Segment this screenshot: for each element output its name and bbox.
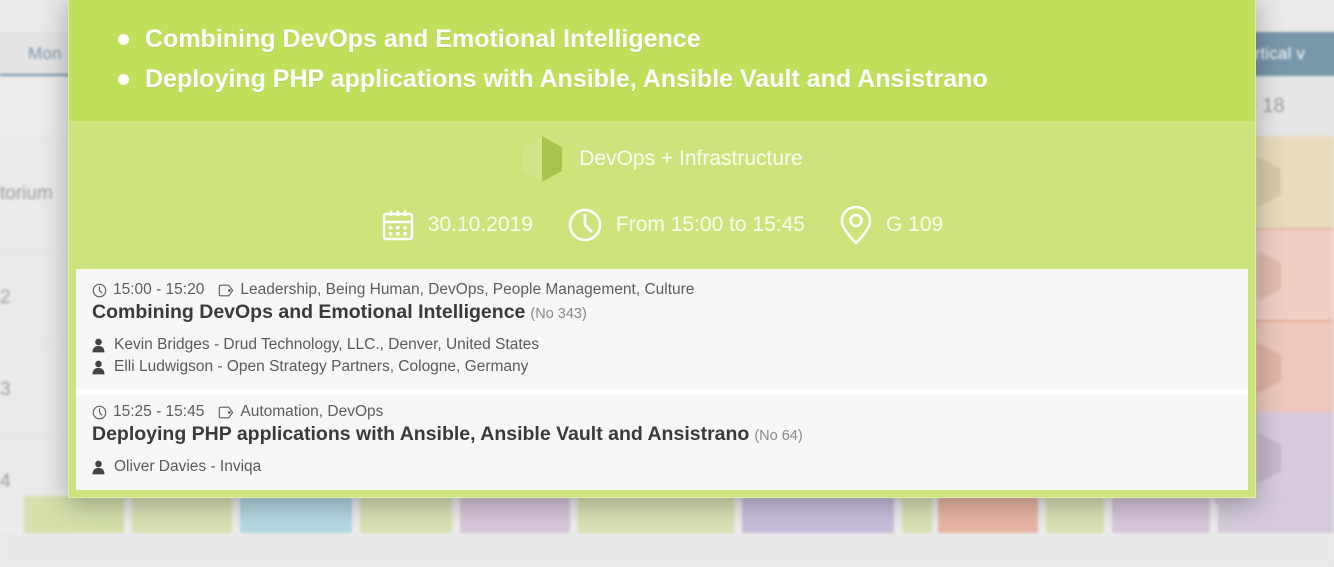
session-title-row: Combining DevOps and Emotional Intellige… xyxy=(92,301,1232,324)
background-row-label-text: 2 xyxy=(0,287,11,309)
session-title-row: Deploying PHP applications with Ansible,… xyxy=(92,423,1232,446)
background-row-label-text: torium xyxy=(0,183,53,205)
person-icon xyxy=(92,360,105,375)
session-number: (No 343) xyxy=(530,306,586,322)
clock-icon xyxy=(567,207,603,243)
session-tags: Automation, DevOps xyxy=(240,403,383,421)
tag-icon xyxy=(218,406,234,419)
calendar-icon xyxy=(381,208,415,242)
session-item[interactable]: 15:00 - 15:20 Leadership, Being Human, D… xyxy=(76,269,1248,390)
meta-info-row: 30.10.2019 From 15:00 to 15:45 xyxy=(69,205,1255,245)
speaker-name: Kevin Bridges - Drud Technology, LLC., D… xyxy=(114,334,539,356)
background-tab-label: Mon xyxy=(28,44,62,64)
meta-date: 30.10.2019 xyxy=(381,208,533,242)
background-row-label-auditorium: torium xyxy=(0,136,66,251)
session-meta-row: 15:00 - 15:20 Leadership, Being Human, D… xyxy=(92,281,1232,299)
modal-meta-section: DevOps + Infrastructure xyxy=(69,121,1255,269)
background-row-label-12: 2 xyxy=(0,251,66,343)
speaker-row: Elli Ludwigson - Open Strategy Partners,… xyxy=(92,356,1232,378)
hexagon-cube-icon xyxy=(521,135,563,183)
session-detail-modal: Combining DevOps and Emotional Intellige… xyxy=(68,0,1256,498)
speaker-row: Oliver Davies - Inviqa xyxy=(92,456,1232,478)
highlight-list: Combining DevOps and Emotional Intellige… xyxy=(103,19,1221,99)
meta-room-text: G 109 xyxy=(886,213,943,237)
speaker-row: Kevin Bridges - Drud Technology, LLC., D… xyxy=(92,334,1232,356)
person-icon xyxy=(92,460,105,475)
highlight-item[interactable]: Deploying PHP applications with Ansible,… xyxy=(103,59,1221,99)
meta-date-text: 30.10.2019 xyxy=(428,213,533,237)
session-title: Combining DevOps and Emotional Intellige… xyxy=(92,301,525,323)
session-time: 15:25 - 15:45 xyxy=(113,403,204,421)
clock-icon xyxy=(92,283,107,298)
session-tags: Leadership, Being Human, DevOps, People … xyxy=(240,281,694,299)
meta-room: G 109 xyxy=(839,205,943,245)
background-row-label-text: 3 xyxy=(0,379,11,401)
track-row: DevOps + Infrastructure xyxy=(69,135,1255,183)
background-row-label-text: 4 xyxy=(0,471,11,493)
background-column-header-label: 18 xyxy=(1262,95,1284,118)
highlight-item[interactable]: Combining DevOps and Emotional Intellige… xyxy=(103,19,1221,59)
modal-highlights-header: Combining DevOps and Emotional Intellige… xyxy=(69,0,1255,121)
tag-icon xyxy=(218,284,234,297)
meta-time-text: From 15:00 to 15:45 xyxy=(616,213,805,237)
meta-time: From 15:00 to 15:45 xyxy=(567,207,805,243)
speaker-name: Oliver Davies - Inviqa xyxy=(114,456,261,478)
track-name: DevOps + Infrastructure xyxy=(579,147,803,171)
clock-icon xyxy=(92,405,107,420)
session-list: 15:00 - 15:20 Leadership, Being Human, D… xyxy=(76,269,1248,490)
session-meta-row: 15:25 - 15:45 Automation, DevOps xyxy=(92,403,1232,421)
person-icon xyxy=(92,338,105,353)
session-time: 15:00 - 15:20 xyxy=(113,281,204,299)
background-row-label-13: 3 xyxy=(0,343,66,435)
session-item[interactable]: 15:25 - 15:45 Automation, DevOps Deployi… xyxy=(76,394,1248,490)
session-title: Deploying PHP applications with Ansible,… xyxy=(92,423,749,445)
speaker-name: Elli Ludwigson - Open Strategy Partners,… xyxy=(114,356,528,378)
session-number: (No 64) xyxy=(754,428,802,444)
background-footer xyxy=(0,533,1334,567)
location-pin-icon xyxy=(839,205,873,245)
